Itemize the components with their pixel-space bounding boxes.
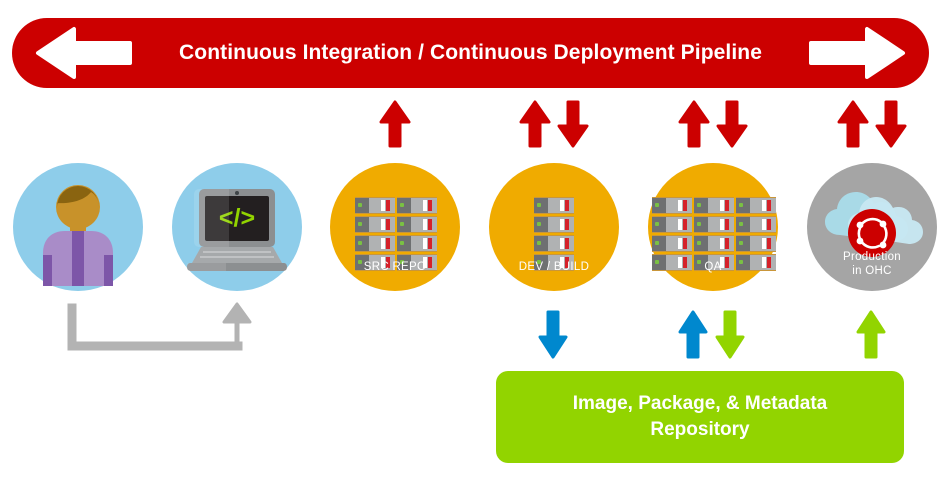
arrow-right-icon [807, 26, 907, 80]
server-rack-icon [534, 197, 574, 271]
node-dev-build[interactable]: DEV / BUILD [489, 163, 619, 291]
repo-arrow-up-qa [677, 309, 709, 359]
node-workstation[interactable]: </> [172, 163, 302, 291]
pipeline-arrow-up-qa [677, 100, 711, 148]
banner-title: Continuous Integration / Continuous Depl… [12, 18, 929, 88]
laptop-code-icon: </> [172, 163, 302, 291]
node-label-qa: QA [648, 261, 778, 274]
node-qa[interactable]: QA [648, 163, 778, 291]
node-label-dev-build: DEV / BUILD [489, 261, 619, 274]
pipeline-arrow-down-dev-build [556, 100, 590, 148]
repository-box[interactable]: Image, Package, & Metadata Repository [496, 371, 904, 463]
node-label-production-line1: Production [807, 251, 937, 264]
server-rack-icon [652, 197, 776, 271]
repository-label-line1: Image, Package, & Metadata [573, 391, 828, 417]
feedback-loop-arrow-icon [60, 300, 255, 360]
repository-label-line2: Repository [573, 417, 828, 443]
repo-arrow-down-qa [714, 309, 746, 359]
node-developer[interactable] [13, 163, 143, 291]
pipeline-arrow-up-dev-build [518, 100, 552, 148]
person-avatar-icon [13, 163, 143, 291]
repo-arrow-up-production [855, 309, 887, 359]
server-rack-icon [355, 197, 437, 271]
node-src-repo[interactable]: SRC REPO [330, 163, 460, 291]
pipeline-arrow-down-qa [715, 100, 749, 148]
pipeline-arrow-down-production [874, 100, 908, 148]
repository-label: Image, Package, & Metadata Repository [573, 391, 828, 443]
pipeline-arrow-up-production [836, 100, 870, 148]
repo-arrow-down-dev-build [537, 309, 569, 359]
node-label-src-repo: SRC REPO [330, 261, 460, 274]
diagram-canvas: Continuous Integration / Continuous Depl… [0, 0, 941, 500]
node-label-production-line2: in OHC [807, 265, 937, 278]
cicd-pipeline-banner: Continuous Integration / Continuous Depl… [12, 18, 929, 88]
node-production[interactable]: Production in OHC [807, 163, 937, 291]
pipeline-arrow-up-src-repo [378, 100, 412, 148]
